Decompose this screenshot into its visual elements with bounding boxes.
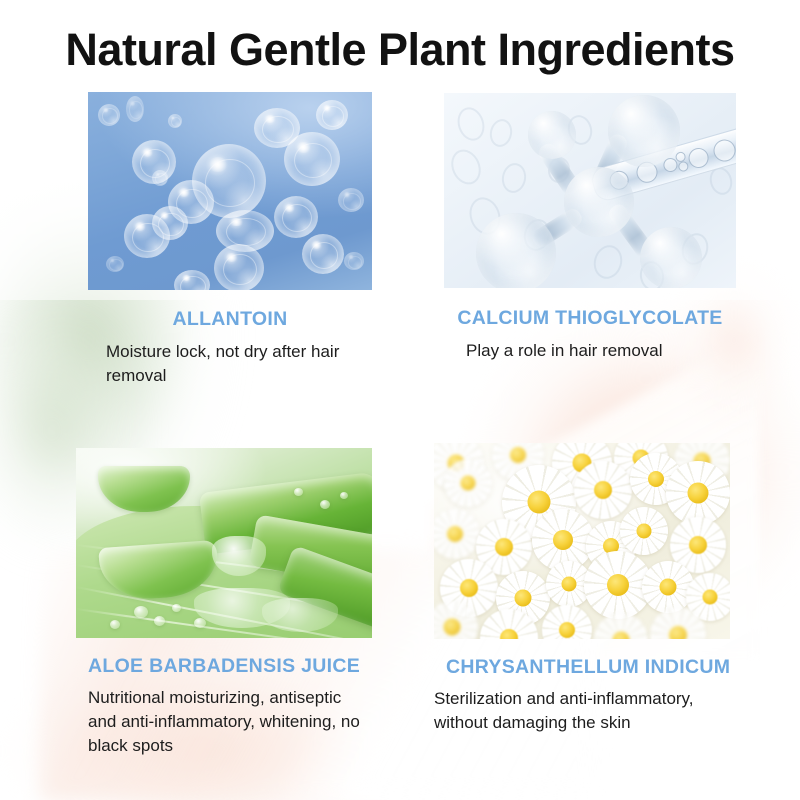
daisy-flower (666, 461, 730, 525)
daisy-flower (574, 461, 632, 519)
ingredient-name: CHRYSANTHELLUM INDICUM (446, 655, 730, 679)
aloe-vera-slices-photo (76, 448, 372, 638)
ingredient-description: Moisture lock, not dry after hair remova… (106, 340, 372, 388)
ingredient-description: Play a role in hair removal (466, 339, 736, 363)
molecule-atom (476, 213, 556, 288)
molecule-atom-center (564, 167, 634, 237)
bubble (316, 100, 348, 130)
molecule-atom (640, 227, 702, 288)
daisy-flower (642, 561, 694, 613)
ingredient-grid: ALLANTOIN Moisture lock, not dry after h… (0, 0, 800, 800)
bubble-small (338, 188, 364, 212)
ingredient-description: Nutritional moisturizing, antiseptic and… (88, 686, 372, 758)
white-chrysanthemum-flowers-photo (434, 443, 730, 639)
bubble-small (126, 96, 144, 122)
ingredient-description: Sterilization and anti-inflammatory, wit… (434, 687, 730, 735)
ingredients-poster: Natural Gentle Plant Ingredients (0, 0, 800, 800)
ingredient-name: ALLANTOIN (88, 307, 372, 331)
molecule-atom (528, 111, 576, 159)
bubble-small (98, 104, 120, 126)
bubble (152, 206, 188, 240)
ingredient-card-allantoin: ALLANTOIN Moisture lock, not dry after h… (88, 92, 372, 388)
water-droplet (340, 492, 348, 499)
bubble-small (168, 114, 182, 128)
bubble (284, 132, 340, 186)
ingredient-card-calcium-thioglycolate: CALCIUM THIOGLYCOLATE Play a role in hai… (444, 93, 736, 363)
water-droplet (110, 620, 120, 629)
bubble (274, 196, 318, 238)
water-droplet (134, 606, 148, 618)
molecule-atom (608, 95, 680, 167)
glass-molecule-model-photo (444, 93, 736, 288)
daisy-flower (444, 459, 492, 507)
daisy-flower (620, 507, 668, 555)
bubble-small (344, 252, 364, 270)
ingredient-name: CALCIUM THIOGLYCOLATE (444, 306, 736, 330)
bubble (302, 234, 344, 274)
water-droplet (294, 488, 303, 496)
water-droplet (154, 616, 165, 626)
water-droplet (194, 618, 206, 628)
bubble (214, 244, 264, 290)
ingredient-card-aloe-barbadensis-juice: ALOE BARBADENSIS JUICE Nutritional moist… (76, 448, 372, 758)
ingredient-card-chrysanthellum-indicum: CHRYSANTHELLUM INDICUM Sterilization and… (434, 443, 730, 735)
water-droplet (172, 604, 181, 612)
bubble-small (152, 170, 168, 186)
ingredient-name: ALOE BARBADENSIS JUICE (88, 654, 372, 678)
bubble-small (106, 256, 124, 272)
water-bubbles-photo (88, 92, 372, 290)
water-droplet (320, 500, 330, 509)
